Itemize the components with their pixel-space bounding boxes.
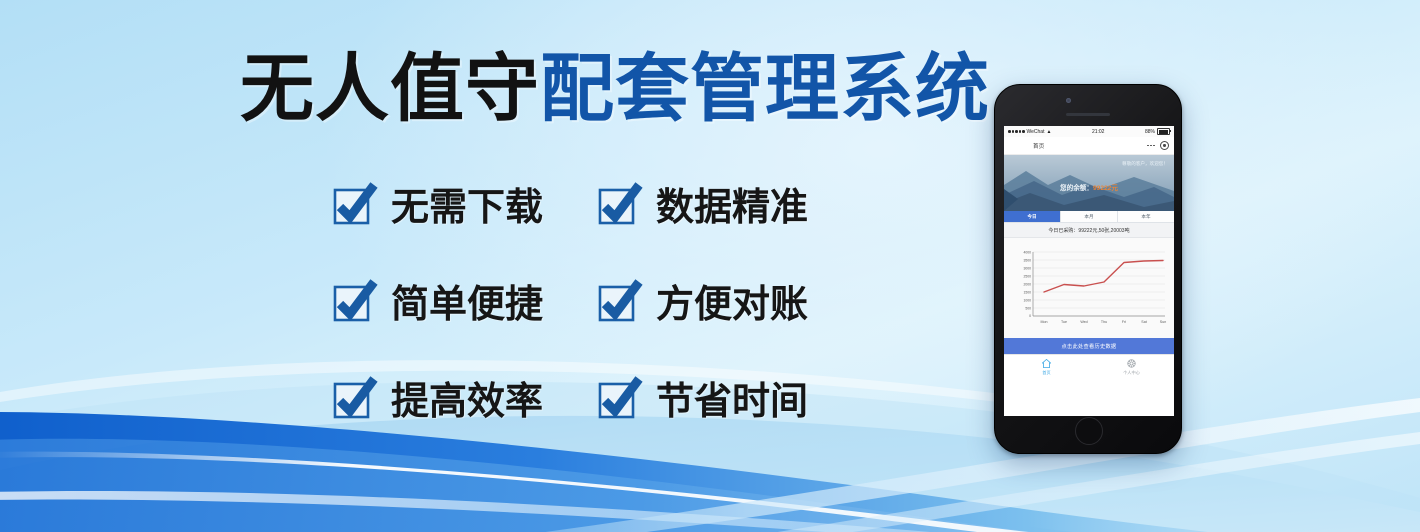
more-dots-icon[interactable] <box>1147 145 1155 147</box>
earpiece-speaker <box>1066 113 1110 116</box>
checkbox-checked-icon <box>333 377 375 419</box>
x-tick-labels: Mon Tue Wed Thu Fri Sat Sun <box>1041 320 1167 324</box>
checkbox-checked-icon <box>333 183 375 225</box>
svg-text:1000: 1000 <box>1023 299 1031 303</box>
page-title: 无人值守配套管理系统 <box>240 52 990 126</box>
balance-label: 您的余额： <box>1060 185 1093 192</box>
checkbox-checked-icon <box>598 183 640 225</box>
history-chart: 4000 3500 3000 2500 2000 1500 1000 500 0… <box>1004 238 1174 338</box>
feature-label: 无需下载 <box>391 176 543 231</box>
period-tabs: 今日 本月 本年 <box>1004 211 1174 223</box>
feature-item: 数据精准 <box>598 176 863 231</box>
feature-item: 简单便捷 <box>333 273 598 328</box>
gear-icon <box>1126 358 1137 369</box>
svg-text:3000: 3000 <box>1023 267 1031 271</box>
page-title-dark: 无人值守 <box>240 46 540 132</box>
feature-item: 方便对账 <box>598 273 863 328</box>
svg-text:Thu: Thu <box>1101 320 1107 324</box>
hero-greeting: 尊敬的客户，欢迎您！ <box>1122 161 1168 167</box>
svg-text:2000: 2000 <box>1023 283 1031 287</box>
svg-text:2500: 2500 <box>1023 275 1031 279</box>
feature-label: 节省时间 <box>656 370 808 425</box>
status-bar: WeChat ▲ 21:02 88% <box>1004 126 1174 137</box>
phone-screen: WeChat ▲ 21:02 88% 首页 <box>1004 126 1174 416</box>
home-button[interactable] <box>1075 417 1103 445</box>
svg-text:3500: 3500 <box>1023 259 1031 263</box>
hero-balance: 您的余额：99222元 <box>1004 182 1174 192</box>
tabbar-item-profile[interactable]: 个人中心 <box>1089 355 1174 379</box>
svg-text:Sun: Sun <box>1160 320 1166 324</box>
checkbox-checked-icon <box>598 280 640 322</box>
balance-value: 99222元 <box>1093 185 1118 192</box>
svg-text:500: 500 <box>1025 307 1031 311</box>
feature-list: 无需下载 数据精准 简单便捷 <box>333 176 863 425</box>
feature-label: 简单便捷 <box>391 273 543 328</box>
feature-label: 数据精准 <box>656 176 808 231</box>
status-time: 21:02 <box>1092 129 1105 135</box>
miniprogram-navbar: 首页 <box>1004 137 1174 155</box>
carrier-label: WeChat <box>1027 129 1045 135</box>
svg-text:Sat: Sat <box>1141 320 1146 324</box>
checkbox-checked-icon <box>598 377 640 419</box>
front-camera-icon <box>1066 98 1071 103</box>
tab-year[interactable]: 本年 <box>1118 211 1174 222</box>
battery-percent: 88% <box>1145 129 1155 135</box>
tab-today[interactable]: 今日 <box>1004 211 1061 222</box>
tabbar-label-home: 首页 <box>1042 370 1050 376</box>
summary-text: 今日已采购：99222元,50张,20003吨 <box>1004 223 1174 238</box>
battery-icon <box>1157 128 1170 135</box>
tab-month[interactable]: 本月 <box>1061 211 1118 222</box>
tabbar-item-home[interactable]: 首页 <box>1004 355 1089 379</box>
page-title-blue: 配套管理系统 <box>540 46 990 132</box>
tabbar-label-profile: 个人中心 <box>1123 370 1140 376</box>
signal-dots-icon <box>1008 130 1025 133</box>
feature-label: 方便对账 <box>656 273 808 328</box>
checkbox-checked-icon <box>333 280 375 322</box>
svg-text:Mon: Mon <box>1041 320 1048 324</box>
svg-text:0: 0 <box>1029 314 1031 318</box>
hero-banner: 尊敬的客户，欢迎您！ 您的余额：99222元 <box>1004 155 1174 211</box>
svg-text:Tue: Tue <box>1061 320 1067 324</box>
svg-text:Wed: Wed <box>1080 320 1087 324</box>
nav-title: 首页 <box>1033 142 1044 150</box>
view-history-button[interactable]: 点击此处查看历史数据 <box>1004 338 1174 354</box>
phone-top-bezel <box>995 85 1181 129</box>
phone-mockup: WeChat ▲ 21:02 88% 首页 <box>994 84 1182 454</box>
home-icon <box>1041 358 1052 369</box>
line-chart-svg: 4000 3500 3000 2500 2000 1500 1000 500 0… <box>1007 242 1171 334</box>
feature-label: 提高效率 <box>391 370 543 425</box>
svg-text:4000: 4000 <box>1023 251 1031 255</box>
feature-item: 节省时间 <box>598 370 863 425</box>
svg-text:1500: 1500 <box>1023 291 1031 295</box>
y-tick-labels: 4000 3500 3000 2500 2000 1500 1000 500 0 <box>1023 251 1031 319</box>
svg-text:Fri: Fri <box>1122 320 1126 324</box>
promo-banner: 无人值守配套管理系统 无需下载 数据精准 <box>0 0 1420 532</box>
feature-item: 无需下载 <box>333 176 598 231</box>
close-circle-icon[interactable] <box>1160 141 1169 150</box>
feature-item: 提高效率 <box>333 370 598 425</box>
bottom-tabbar: 首页 个人中心 <box>1004 354 1174 379</box>
wifi-icon: ▲ <box>1046 129 1051 135</box>
miniprogram-capsule[interactable] <box>1147 141 1169 150</box>
